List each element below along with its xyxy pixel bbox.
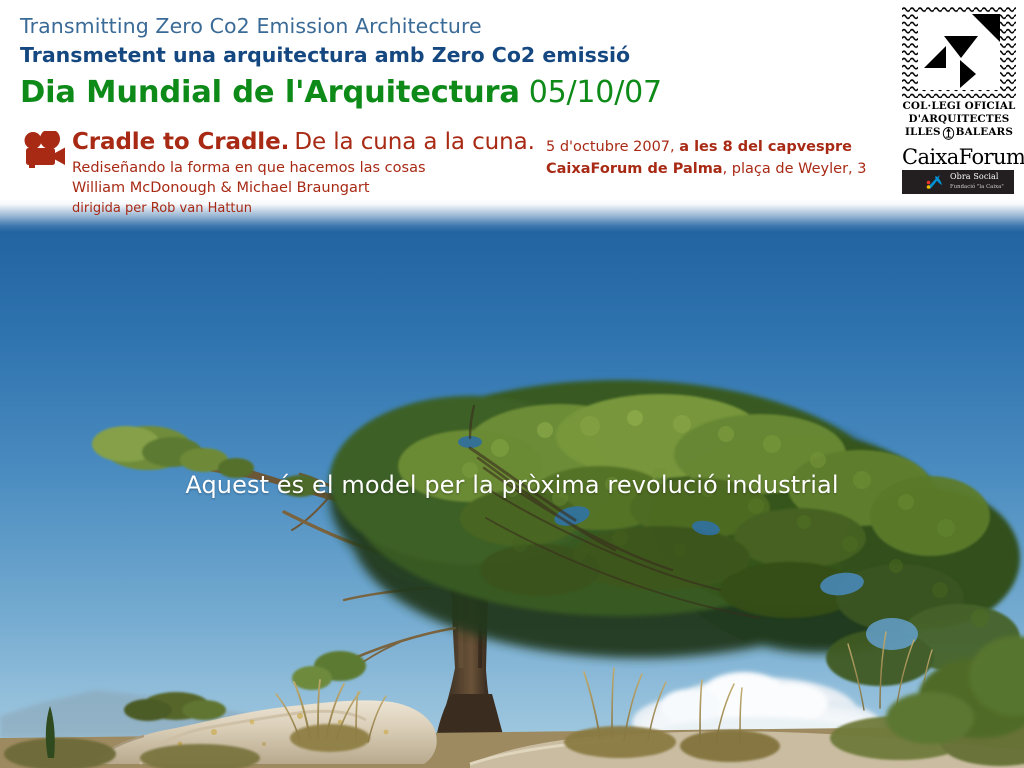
film-director: dirigida per Rob van Hattun [72,199,535,218]
event-date-short: 05/10/07 [529,75,662,110]
caixaforum-wordmark: CaixaForum [902,146,1016,169]
obra-social-label: Obra Social [950,173,1004,181]
logo-stack: COL·LEGI OFICIAL D'ARQUITECTES ILLES [894,6,1024,194]
coaib-emblem [902,6,1016,98]
event-venue-line: CaixaForum de Palma, plaça de Weyler, 3 [546,158,866,180]
film-subtitle: Rediseñando la forma en que hacemos las … [72,158,535,178]
coaib-line-2: D'ARQUITECTES [902,113,1016,126]
poster-root: Aquest és el model per la pròxima revolu… [0,0,1024,768]
event-address: , plaça de Weyler, 3 [723,161,867,177]
film-title-main: Cradle to Cradle. [72,129,289,155]
film-title-spanish: De la cuna a la cuna. [294,129,534,155]
film-authors: William McDonough & Michael Braungart [72,178,535,198]
coaib-wordmark: COL·LEGI OFICIAL D'ARQUITECTES ILLES [902,100,1016,140]
event-title-row: Dia Mundial de l'Arquitectura05/10/07 [20,73,662,117]
event-venue: CaixaForum de Palma [546,161,723,177]
event-date-line: 5 d'octubre 2007, a les 8 del capvespre [546,136,866,158]
event-date: 5 d'octubre 2007, [546,139,675,155]
obra-social-bar: Obra Social Fundació "la Caixa" [902,170,1014,194]
film-info: Cradle to Cradle. De la cuna a la cuna. … [72,128,535,218]
la-caixa-star-icon [924,173,946,191]
header-titles: Transmitting Zero Co2 Emission Architect… [20,12,662,117]
caixaforum-logo[interactable]: CaixaForum Obra Social Fundació "la Caix… [902,146,1016,194]
event-details: 5 d'octubre 2007, a les 8 del capvespre … [546,136,866,180]
coaib-line-3: ILLES BALEARS [902,125,1016,140]
header-panel: Transmitting Zero Co2 Emission Architect… [0,0,1024,200]
obra-social-text: Obra Social Fundació "la Caixa" [950,173,1004,191]
event-title: Dia Mundial de l'Arquitectura [20,75,520,110]
event-time: a les 8 del capvespre [679,139,852,155]
title-english: Transmitting Zero Co2 Emission Architect… [20,12,662,40]
coaib-logo[interactable]: COL·LEGI OFICIAL D'ARQUITECTES ILLES [902,6,1016,140]
fundacio-label: Fundació "la Caixa" [950,183,1004,191]
photo-caption: Aquest és el model per la pròxima revolu… [0,471,1024,499]
coaib-line-3-left: ILLES [905,126,941,139]
film-title-row: Cradle to Cradle. De la cuna a la cuna. [72,128,535,158]
coaib-seal-icon [942,125,955,140]
title-catalan: Transmetent una arquitectura amb Zero Co… [20,40,662,70]
movie-camera-icon [20,131,70,171]
coaib-line-1: COL·LEGI OFICIAL [902,100,1016,113]
coaib-line-3-right: BALEARS [956,126,1013,139]
